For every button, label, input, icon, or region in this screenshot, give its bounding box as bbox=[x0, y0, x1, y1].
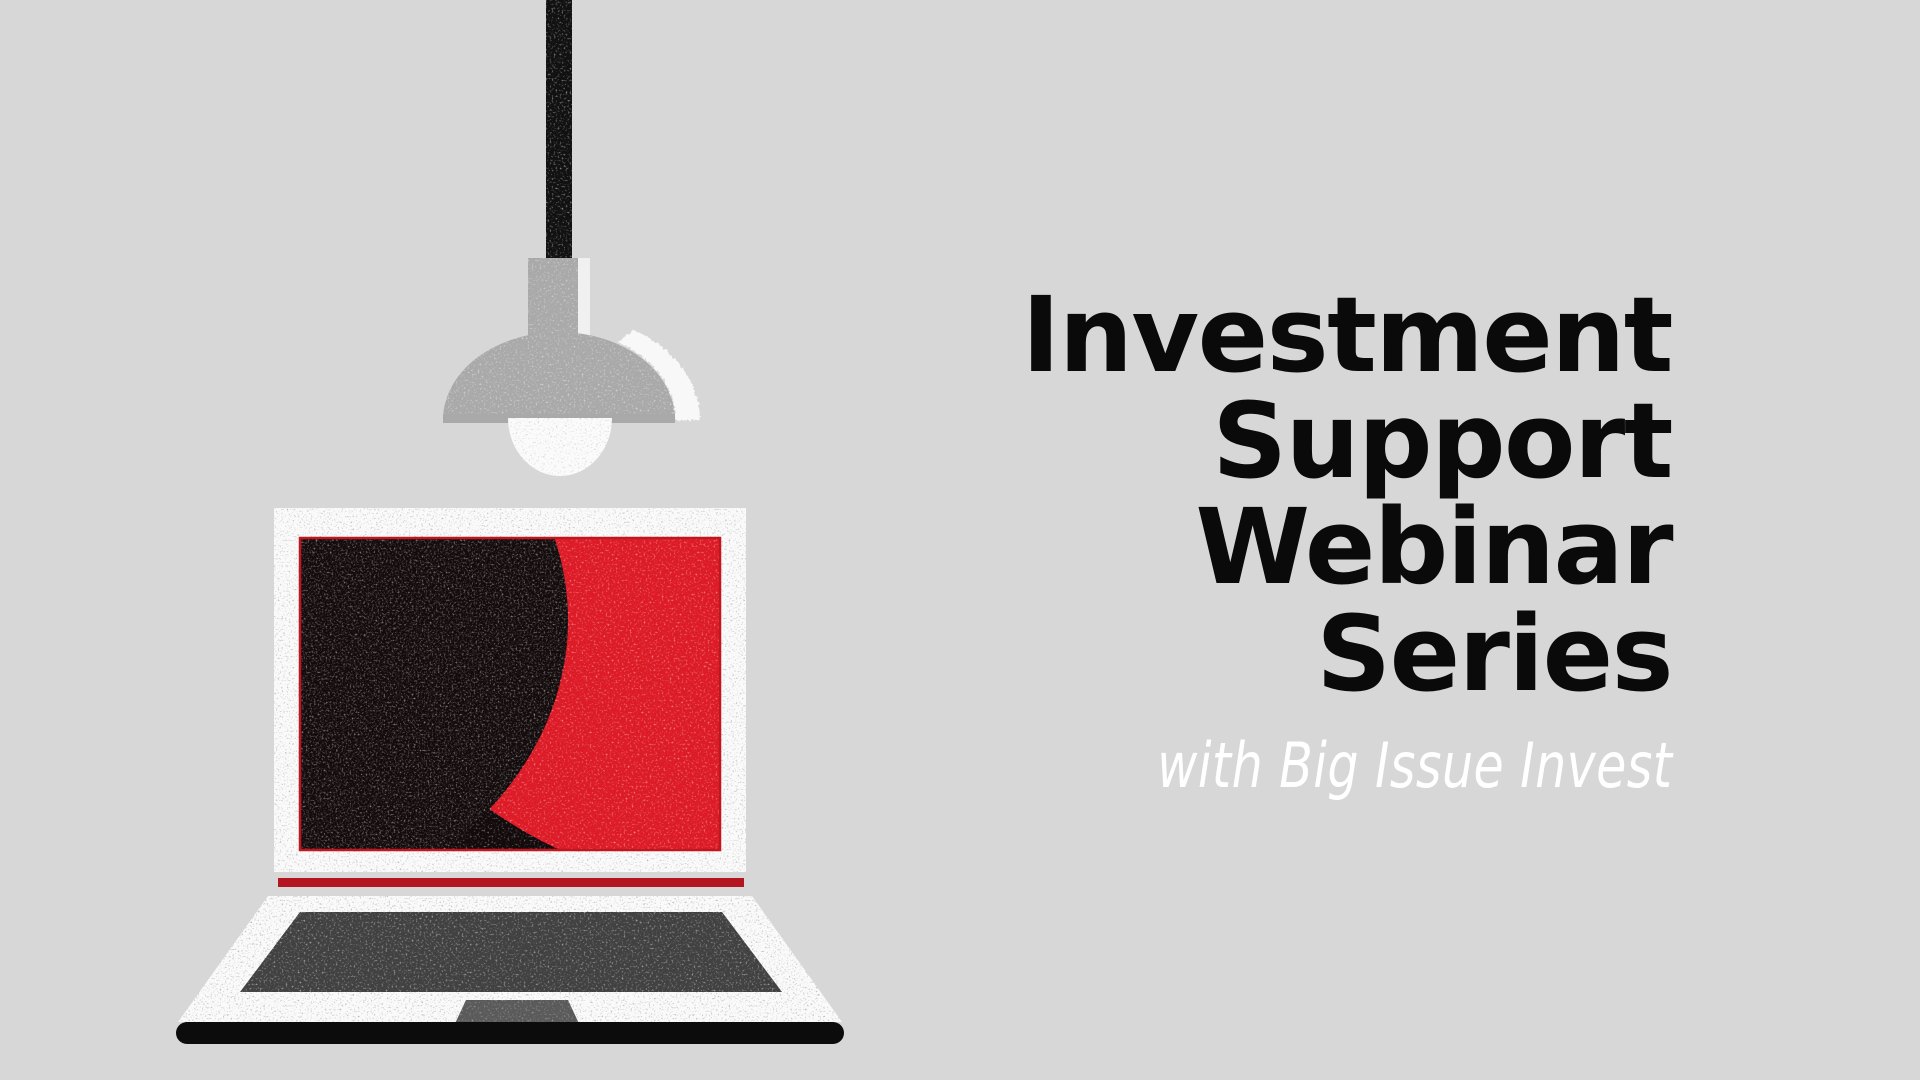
headline-line-4: Series bbox=[1022, 601, 1672, 707]
pendant-lamp-group bbox=[443, 0, 700, 476]
poster-canvas: Investment Support Webinar Series with B… bbox=[0, 0, 1920, 1080]
illustration-artwork bbox=[0, 0, 960, 1080]
laptop-hinge bbox=[278, 878, 744, 887]
headline-line-2: Support bbox=[1022, 388, 1672, 494]
laptop-base-bar bbox=[176, 1022, 844, 1044]
subtitle: with Big Issue Invest bbox=[1157, 733, 1672, 798]
lamp-neck-highlight bbox=[578, 258, 590, 338]
text-block: Investment Support Webinar Series with B… bbox=[860, 0, 1672, 1080]
laptop-group bbox=[0, 302, 844, 1044]
headline-line-1: Investment bbox=[1022, 282, 1672, 388]
page-title: Investment Support Webinar Series bbox=[1022, 282, 1672, 706]
headline-line-3: Webinar bbox=[1022, 494, 1672, 600]
